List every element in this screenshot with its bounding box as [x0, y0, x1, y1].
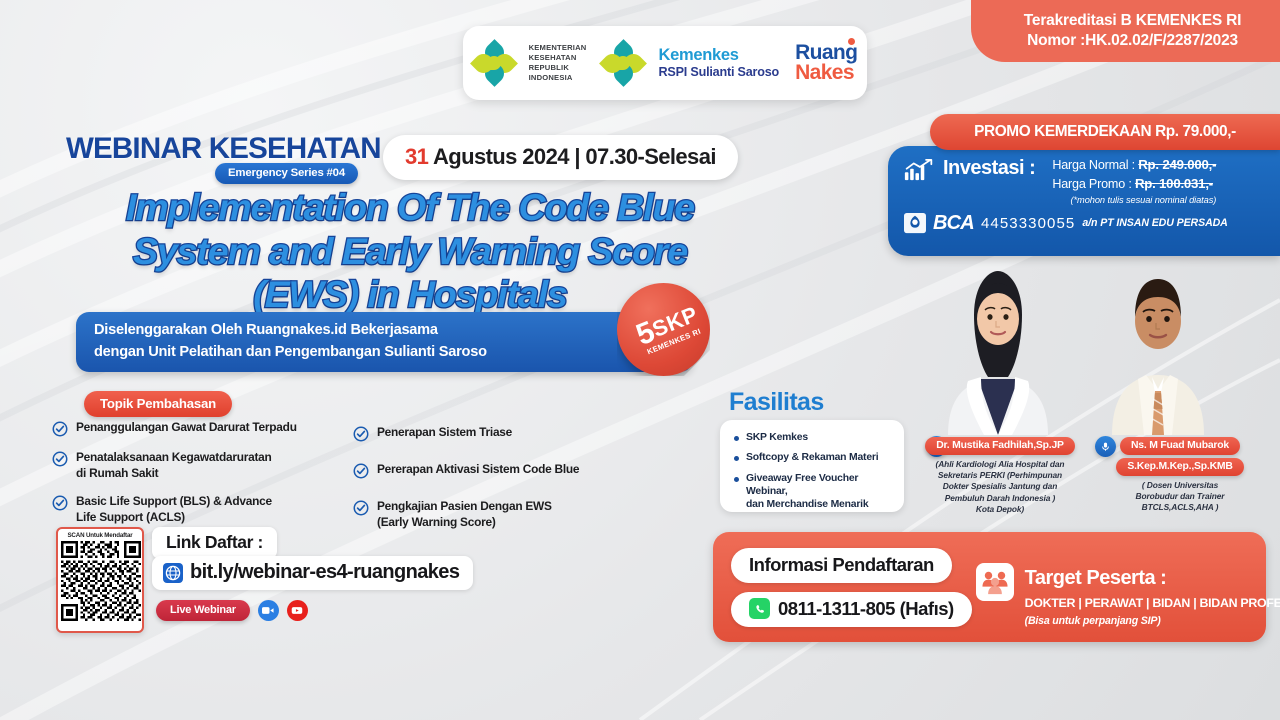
topic-item: Basic Life Support (BLS) & Advance Life … — [52, 494, 327, 525]
zoom-icon[interactable] — [258, 600, 279, 621]
date-day: 31 — [405, 144, 428, 169]
check-circle-icon — [52, 495, 68, 511]
date-rest: Agustus 2024 | 07.30-Selesai — [433, 144, 716, 169]
speaker-photo-2 — [1094, 259, 1222, 435]
people-icon — [976, 563, 1014, 601]
speaker-credentials: S.Kep.M.Kep.,Sp.KMB — [1116, 458, 1243, 476]
rspi-logo-icon — [602, 43, 642, 83]
topic-item: Penatalaksanaan Kegawatdaruratan di Ruma… — [52, 450, 327, 481]
fasilitas-label: Softcopy & Rekaman Materi — [746, 451, 878, 464]
check-circle-icon — [353, 463, 369, 479]
topic-item: Pererapan Aktivasi Sistem Code Blue — [353, 462, 643, 479]
info-label: Informasi Pendaftaran — [731, 548, 952, 583]
fasilitas-item: Softcopy & Rekaman Materi — [734, 451, 892, 464]
topic-label: Penanggulangan Gawat Darurat Terpadu — [76, 420, 297, 436]
topic-item: Penanggulangan Gawat Darurat Terpadu — [52, 420, 327, 437]
promo-price-value: Rp. 100.031,- — [1135, 176, 1213, 191]
promo-banner: PROMO KEMERDEKAAN Rp. 79.000,- — [930, 114, 1280, 150]
fasilitas-item: SKP Kemkes — [734, 431, 892, 444]
qr-caption: SCAN Untuk Mendaftar — [61, 532, 139, 539]
accreditation-line-2: Nomor :HK.02.02/F/2287/2023 — [1027, 31, 1238, 51]
topics-list: Penanggulangan Gawat Darurat Terpadu Pen… — [52, 420, 662, 530]
bullet-icon — [734, 436, 739, 441]
webinar-title: WEBINAR KESEHATAN — [66, 132, 381, 166]
link-label: Link Daftar : — [152, 527, 277, 559]
check-circle-icon — [52, 421, 68, 437]
fasilitas-box: SKP Kemkes Softcopy & Rekaman Materi Giv… — [720, 420, 904, 512]
organizer-line-2: dengan Unit Pelatihan dan Pengembangan S… — [94, 342, 675, 364]
check-circle-icon — [353, 500, 369, 516]
youtube-icon[interactable] — [287, 600, 308, 621]
speaker-photo-1 — [934, 259, 1062, 435]
registration-url: bit.ly/webinar-es4-ruangnakes — [190, 561, 459, 584]
promo-price-label: Harga Promo : — [1052, 177, 1131, 191]
main-title-line-1: Implementation Of The Code Blue — [70, 186, 750, 230]
topics-badge: Topik Pembahasan — [84, 391, 232, 417]
fasilitas-item: Giveaway Free Voucher Webinar, dan Merch… — [734, 472, 892, 512]
account-number: 4453330055 — [981, 215, 1075, 232]
organizer-line-1: Diselenggarakan Oleh Ruangnakes.id Beker… — [94, 320, 675, 342]
price-note: (*mohon tulis sesuai nominal diatas) — [1052, 194, 1216, 207]
accreditation-line-1: Terakreditasi B KEMENKES RI — [1024, 11, 1241, 31]
normal-price-label: Harga Normal : — [1052, 158, 1135, 172]
ruangnakes-logo: Ruang Nakes — [795, 43, 857, 83]
investment-panel: Investasi : Harga Normal : Rp. 249.000,-… — [888, 146, 1280, 256]
topic-label: Pengkajian Pasien Dengan EWS (Early Warn… — [377, 499, 552, 530]
logo-bar: KEMENTERIAN KESEHATAN REPUBLIK INDONESIA… — [463, 26, 867, 100]
registration-link[interactable]: bit.ly/webinar-es4-ruangnakes — [152, 556, 473, 590]
topic-label: Basic Life Support (BLS) & Advance Life … — [76, 494, 272, 525]
fasilitas-label: Giveaway Free Voucher Webinar, dan Merch… — [746, 472, 892, 512]
bullet-icon — [734, 456, 739, 461]
topic-item: Penerapan Sistem Triase — [353, 425, 643, 442]
bullet-icon — [734, 477, 739, 482]
topics-column-1: Penanggulangan Gawat Darurat Terpadu Pen… — [52, 420, 327, 530]
kemenkes-ri-logo-icon — [473, 43, 513, 83]
chart-icon — [904, 159, 934, 183]
topic-label: Pererapan Aktivasi Sistem Code Blue — [377, 462, 579, 478]
target-audience-column: Target Peserta : DOKTER | PERAWAT | BIDA… — [972, 547, 1280, 627]
normal-price-value: Rp. 249.000,- — [1138, 157, 1216, 172]
topics-column-2: Penerapan Sistem Triase Pererapan Aktiva… — [353, 420, 643, 530]
phone-number: 0811-1311-805 (Hafıs) — [778, 598, 954, 620]
speaker-1: Dr. Mustika Fadhilah,Sp.JP (Ahli Kardiol… — [914, 435, 1086, 515]
accreditation-banner: Terakreditasi B KEMENKES RI Nomor :HK.02… — [971, 0, 1280, 62]
whatsapp-icon — [749, 598, 770, 619]
phone-pill[interactable]: 0811-1311-805 (Hafıs) — [731, 592, 972, 627]
skp-badge: 5SKP KEMENKES RI — [617, 283, 710, 376]
main-title-line-2: System and Early Warning Score — [70, 230, 750, 274]
price-list: Harga Normal : Rp. 249.000,- Harga Promo… — [1052, 156, 1216, 207]
speaker-description: (Ahli Kardiologi Alia Hospital dan Sekre… — [914, 459, 1086, 515]
speaker-2: Ns. M Fuad Mubarok S.Kep.M.Kep.,Sp.KMB (… — [1094, 435, 1266, 514]
speaker-name: Ns. M Fuad Mubarok — [1120, 437, 1240, 455]
date-time-box: 31 Agustus 2024 | 07.30-Selesai — [383, 135, 738, 180]
bank-name: BCA — [933, 212, 974, 235]
fasilitas-label: SKP Kemkes — [746, 431, 808, 444]
series-badge: Emergency Series #04 — [215, 163, 358, 184]
live-webinar-row: Live Webinar — [156, 600, 308, 621]
target-title: Target Peserta : — [1025, 567, 1280, 590]
topic-item: Pengkajian Pasien Dengan EWS (Early Warn… — [353, 499, 643, 530]
rspi-logo-text: Kemenkes RSPI Sulianti Saroso — [658, 47, 779, 78]
live-webinar-badge: Live Webinar — [156, 600, 250, 621]
qr-code-box[interactable]: SCAN Untuk Mendaftar — [56, 527, 144, 633]
bca-logo-icon — [904, 213, 926, 233]
speakers-section: Dr. Mustika Fadhilah,Sp.JP (Ahli Kardiol… — [912, 257, 1280, 517]
check-circle-icon — [353, 426, 369, 442]
check-circle-icon — [52, 451, 68, 467]
speaker-name: Dr. Mustika Fadhilah,Sp.JP — [925, 437, 1075, 455]
investment-label: Investasi : — [943, 157, 1035, 180]
organizer-banner: Diselenggarakan Oleh Ruangnakes.id Beker… — [76, 312, 693, 372]
topic-label: Penatalaksanaan Kegawatdaruratan di Ruma… — [76, 450, 272, 481]
registration-info-column: Informasi Pendaftaran 0811-1311-805 (Haf… — [713, 548, 972, 627]
topic-label: Penerapan Sistem Triase — [377, 425, 512, 441]
bank-account-row: BCA 4453330055 a/n PT INSAN EDU PERSADA — [904, 212, 1266, 235]
target-list: DOKTER | PERAWAT | BIDAN | BIDAN PROFESI — [1025, 596, 1280, 610]
account-holder: a/n PT INSAN EDU PERSADA — [1082, 217, 1227, 229]
globe-icon — [163, 563, 183, 583]
fasilitas-title: Fasilitas — [729, 388, 824, 417]
contact-panel: Informasi Pendaftaran 0811-1311-805 (Haf… — [713, 532, 1266, 642]
target-note: (Bisa untuk perpanjang SIP) — [1025, 615, 1280, 627]
kemenkes-ri-logo-text: KEMENTERIAN KESEHATAN REPUBLIK INDONESIA — [529, 43, 587, 84]
qr-code-image — [61, 541, 141, 621]
speaker-description: ( Dosen Universitas Borobudur dan Traine… — [1094, 480, 1266, 514]
